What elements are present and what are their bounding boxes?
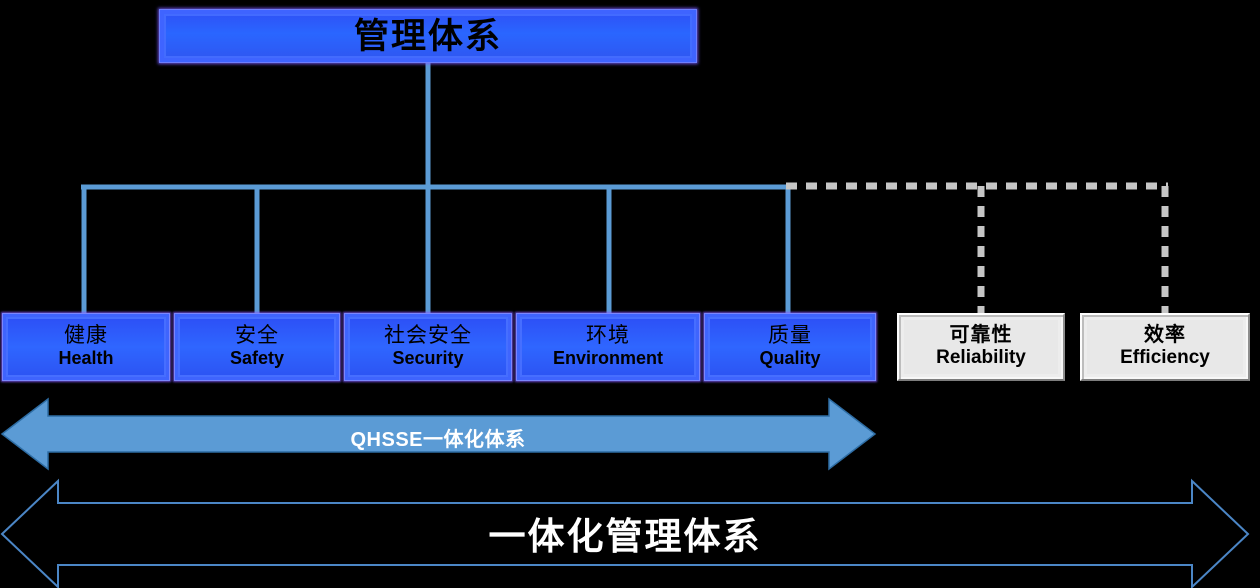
diagram-canvas: 管理体系 健康 Health 安全 Safety 社会安全 Security 环… [0, 0, 1260, 588]
optional-label-en: Efficiency [1120, 347, 1210, 369]
solid-connectors [81, 63, 790, 315]
pillar-box-safety[interactable]: 安全 Safety [174, 313, 340, 381]
arrow-shapes [0, 0, 1260, 588]
pillar-label-cn: 安全 [235, 325, 279, 347]
qhsse-arrow-label: QHSSE一体化体系 [0, 423, 876, 452]
optional-box-efficiency[interactable]: 效率 Efficiency [1080, 313, 1250, 381]
connector-lines [0, 0, 1260, 588]
pillar-label-en: Security [392, 348, 463, 369]
pillar-label-cn: 健康 [64, 325, 108, 347]
pillar-label-en: Safety [230, 348, 284, 369]
optional-label-cn: 效率 [1144, 325, 1186, 346]
management-system-title-box[interactable]: 管理体系 [159, 9, 697, 63]
optional-label-en: Reliability [936, 347, 1026, 369]
optional-box-reliability[interactable]: 可靠性 Reliability [897, 313, 1065, 381]
pillar-label-en: Health [58, 348, 113, 369]
pillar-label-cn: 质量 [768, 325, 812, 347]
pillar-label-en: Environment [553, 348, 663, 369]
pillar-label-cn: 环境 [586, 325, 630, 347]
integrated-arrow-label: 一体化管理体系 [0, 506, 1250, 560]
pillar-box-health[interactable]: 健康 Health [2, 313, 170, 381]
page-title: 管理体系 [354, 19, 502, 54]
pillar-label-en: Quality [759, 348, 820, 369]
pillar-box-quality[interactable]: 质量 Quality [704, 313, 876, 381]
pillar-label-cn: 社会安全 [384, 325, 472, 347]
optional-label-cn: 可靠性 [950, 325, 1013, 346]
dashed-connectors [786, 186, 1168, 314]
pillar-box-environment[interactable]: 环境 Environment [516, 313, 700, 381]
pillar-box-security[interactable]: 社会安全 Security [344, 313, 512, 381]
